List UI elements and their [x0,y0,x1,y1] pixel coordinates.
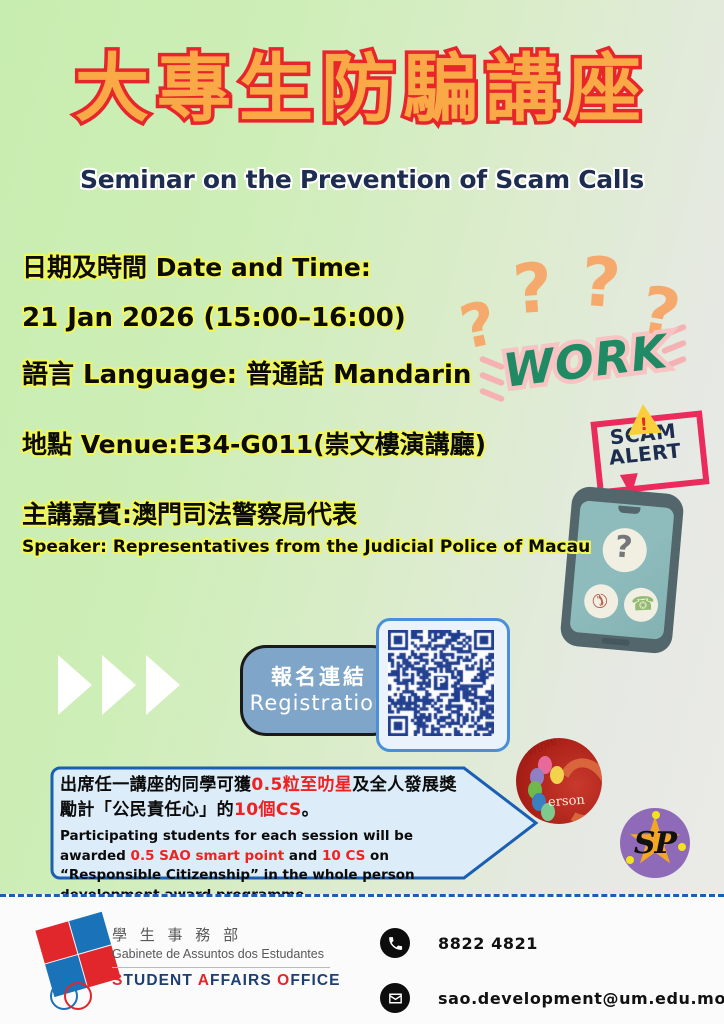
envelope-icon [380,983,410,1013]
phone-answer-icon: ☎ [631,592,656,615]
sao-wordmark-divider [112,967,330,968]
callout-en-red-2: 10 CS [322,848,365,864]
registration-qr-code[interactable] [376,618,510,752]
accept-call-button: ☎ [623,586,660,623]
detail-venue: 地點 Venue:E34-G011(崇文樓演講廳) [22,425,582,461]
detail-date-value: 21 Jan 2026 (15:00–16:00) [22,303,582,333]
sao-en-word: TUDENT [123,972,197,989]
callout-en-mid: and [284,848,322,864]
fingerprint-dot [550,766,564,784]
chevron-arrows-decoration [58,645,208,725]
phone-notch [618,505,641,514]
qr-code-modules [388,630,494,736]
question-mark-icon: ? [579,249,623,320]
award-callout-box: 出席任一講座的同學可獲0.5粒至叻星及全人發展獎勵計「公民責任心」的10個CS。… [46,762,542,884]
registration-label-zh: 報名連結 [271,665,367,690]
question-mark-icon: ? [613,529,633,565]
poster-canvas: 大專生防騙講座 Seminar on the Prevention of Sca… [0,0,724,1024]
callout-en-red-1: 0.5 SAO smart point [131,848,285,864]
contact-phone-row: 8822 4821 [380,923,724,963]
sao-en-initial: O [277,972,290,989]
sao-name-zh: 學 生 事 務 部 [112,925,352,945]
callout-text-zh: 出席任一講座的同學可獲0.5粒至叻星及全人發展獎勵計「公民責任心」的10個CS。 [60,773,458,822]
whole-person-swirl [549,752,602,824]
registration-label-button[interactable]: 報名連結 Registration [240,645,398,736]
contact-info: 8822 4821 sao.development@um.edu.mo [380,923,724,1018]
page-title: 大專生防騙講座 [0,48,724,131]
contact-email-row: sao.development@um.edu.mo [380,978,724,1018]
sao-en-initial: S [112,972,123,989]
callout-zh-red-2: 10個CS [234,800,302,820]
decline-call-button: ✆ [583,583,620,620]
chevron-right-icon [146,655,180,715]
phone-caller-unknown-avatar: ? [601,526,649,574]
contact-phone-number[interactable]: 8822 4821 [438,934,538,953]
chevron-right-icon [102,655,136,715]
sao-name-en: STUDENT AFFAIRS OFFICE [112,972,352,990]
page-subtitle: Seminar on the Prevention of Scam Calls [0,165,724,194]
event-details: 日期及時間 Date and Time: 21 Jan 2026 (15:00–… [22,248,582,557]
whole-person-award-logo: whole erson [516,738,602,824]
phone-home-bar [602,638,630,646]
callout-text: 出席任一講座的同學可獲0.5粒至叻星及全人發展獎勵計「公民責任心」的10個CS。… [60,773,458,906]
smart-point-label: SP [620,826,690,861]
qr-canvas [388,630,494,736]
detail-speaker-en: Speaker: Representatives from the Judici… [22,537,582,557]
phone-hangup-icon: ✆ [586,587,613,614]
exclamation-icon: ! [639,415,648,435]
phone-icon [380,928,410,958]
callout-zh-pre: 出席任一講座的同學可獲 [60,775,251,795]
sao-puzzle-logo [42,920,120,1008]
contact-email-address[interactable]: sao.development@um.edu.mo [438,989,724,1008]
whole-person-word-person: erson [548,793,586,811]
smart-point-logo: SP [620,808,690,878]
callout-zh-post: 。 [302,800,319,820]
detail-language: 語言 Language: 普通話 Mandarin [22,354,582,391]
phone-screen: ? ✆ ☎ [569,500,674,640]
registration-label-en: Registration [250,690,389,716]
callout-zh-red-1: 0.5粒至叻星 [251,775,352,795]
logo-ring-red [64,982,92,1010]
sao-en-word: FFAIRS [210,972,277,989]
sao-wordmark: 學 生 事 務 部 Gabinete de Assuntos dos Estud… [112,925,352,990]
sao-en-word: FFICE [290,972,340,989]
chevron-right-icon [58,655,92,715]
sao-en-initial: A [198,972,210,989]
sao-name-pt: Gabinete de Assuntos dos Estudantes [112,945,352,964]
footer-divider [0,894,724,897]
detail-date-label: 日期及時間 Date and Time: [22,248,582,284]
sparkle-dot [652,811,660,819]
detail-speaker-zh: 主講嘉賓:澳門司法警察局代表 [22,495,582,531]
